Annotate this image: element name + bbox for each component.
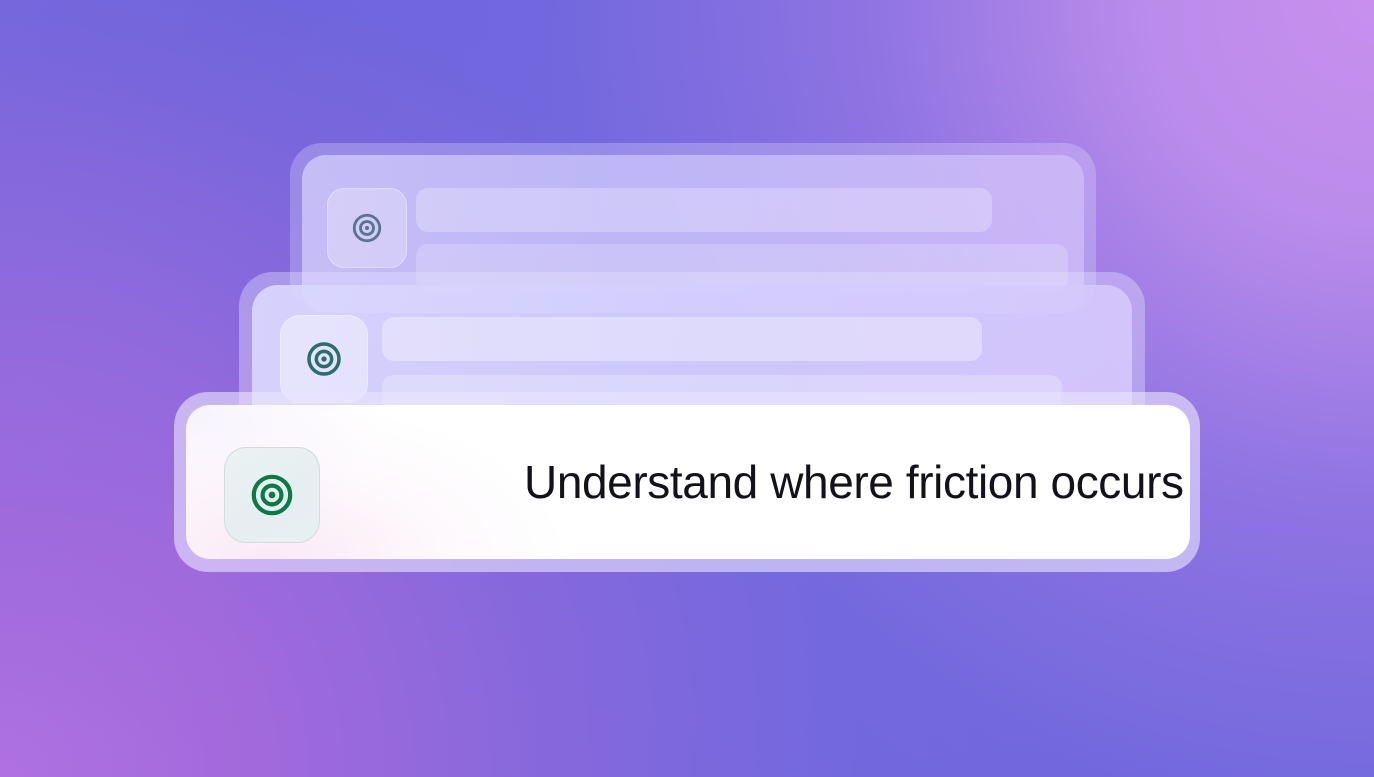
- front-card-icon-box: [224, 447, 320, 543]
- back-card-skeleton-bar: [416, 188, 992, 232]
- hero-illustration: Understand where friction occurs in our …: [0, 0, 1374, 777]
- front-card-surface: Understand where friction occurs in our …: [186, 405, 1190, 559]
- target-bullseye-icon: [304, 339, 344, 379]
- middle-card-icon-box: [280, 315, 368, 403]
- target-bullseye-icon: [248, 471, 296, 519]
- front-feature-card[interactable]: Understand where friction occurs in our …: [174, 392, 1200, 572]
- front-card-title: Understand where friction occurs in our …: [524, 405, 1190, 559]
- target-bullseye-icon: [350, 211, 384, 245]
- back-card-icon-box: [327, 188, 407, 268]
- middle-card-skeleton-bar: [382, 317, 982, 361]
